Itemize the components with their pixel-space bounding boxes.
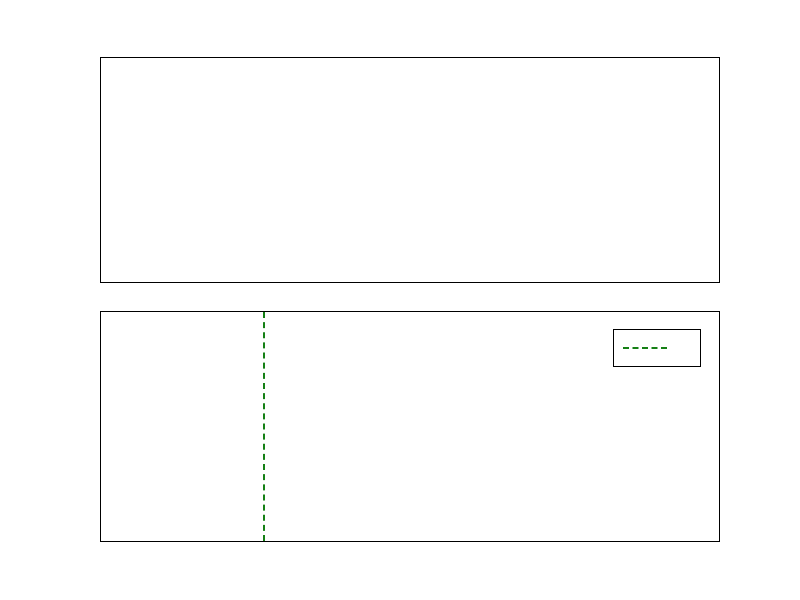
- mag-limit-legend-line-icon: [623, 347, 667, 349]
- figure-canvas: [0, 0, 800, 600]
- bottom-cumulative-axes: [100, 311, 720, 542]
- top-histogram-axes: [100, 57, 720, 283]
- legend[interactable]: [613, 329, 701, 367]
- top-axis-ticks: [101, 58, 719, 282]
